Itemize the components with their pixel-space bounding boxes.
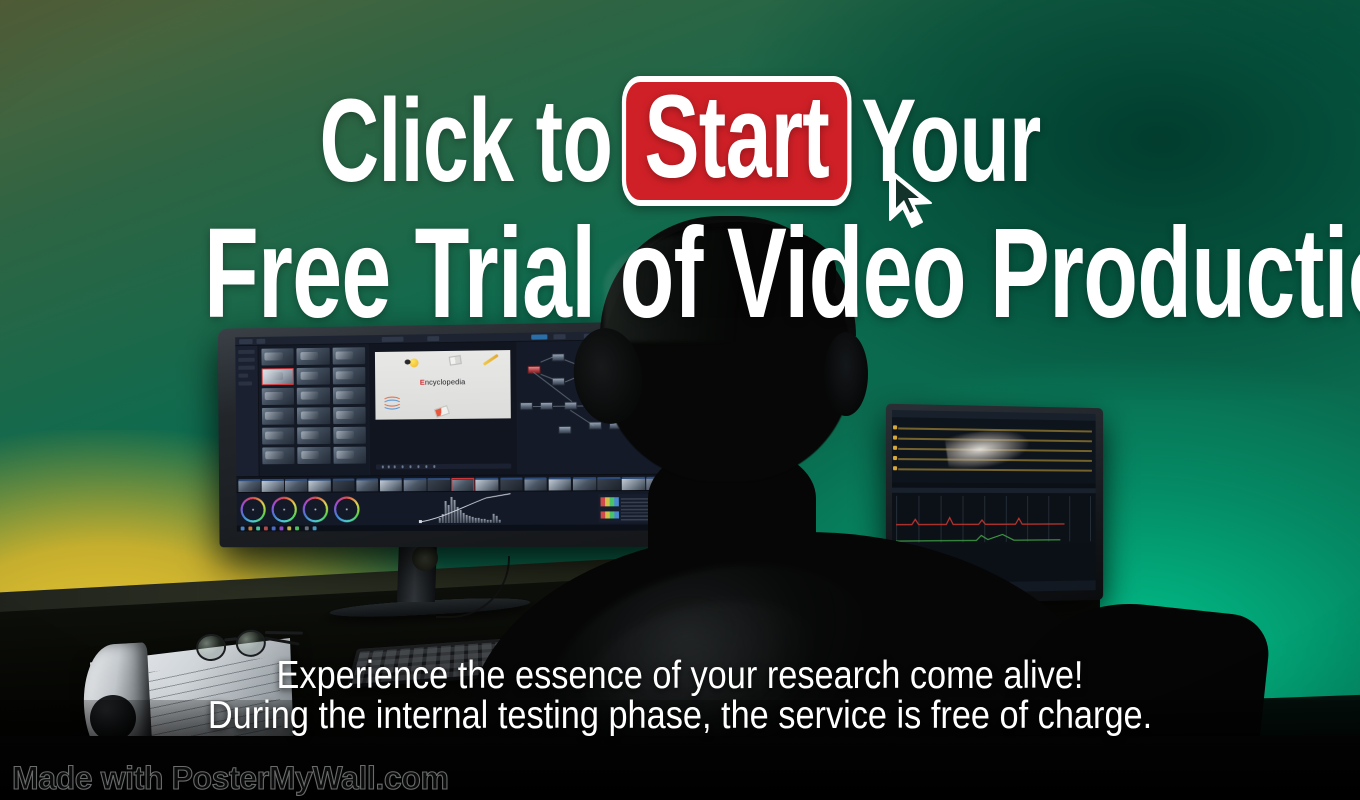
headline-line-2: Free Trial of Video Production — [204, 214, 1156, 334]
poster-canvas: Encyclopedia — [0, 0, 1360, 800]
start-badge-label: Start — [644, 71, 829, 203]
headline-text-before: Click to — [319, 86, 612, 197]
subtitle-line-2: During the internal testing phase, the s… — [82, 696, 1279, 736]
start-button-badge[interactable]: Start — [622, 76, 851, 206]
headline-line-1: Click to Start Your — [204, 76, 1156, 206]
headline: Click to Start Your Free Trial of Video … — [0, 76, 1360, 335]
mouse-pointer-icon — [884, 168, 940, 230]
postermywall-watermark: Made with PosterMyWall.com — [12, 760, 449, 797]
subtitle-line-1: Experience the essence of your research … — [82, 656, 1279, 696]
subtitle: Experience the essence of your research … — [82, 656, 1279, 736]
